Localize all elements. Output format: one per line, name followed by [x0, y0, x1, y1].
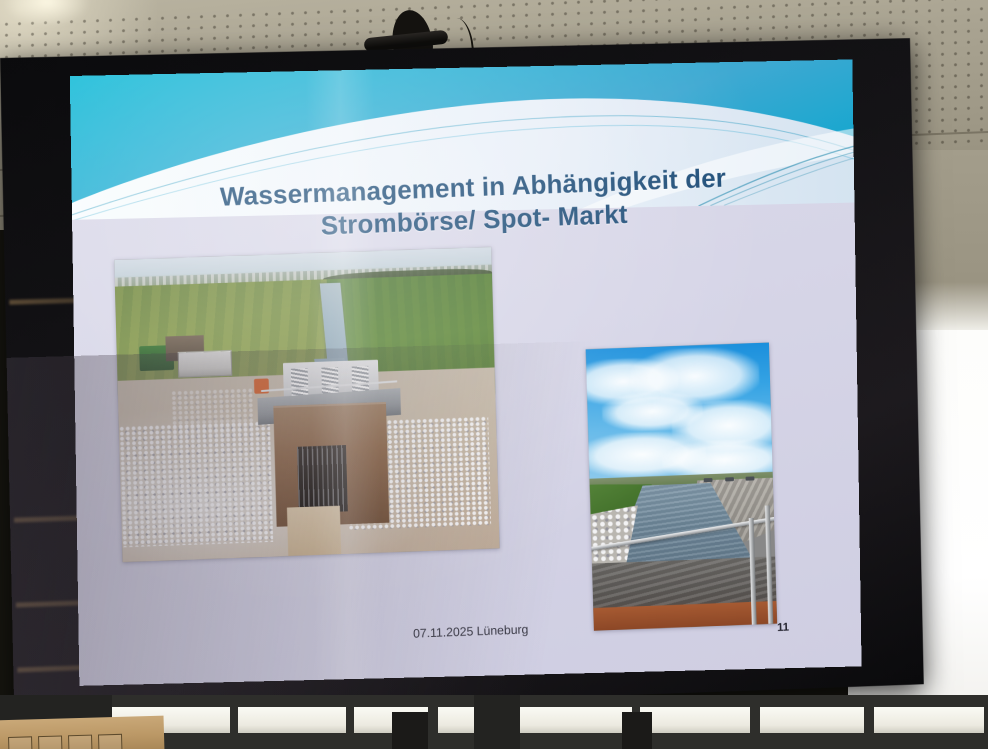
room-window-pane — [874, 707, 984, 733]
conference-room-scene: Wassermanagement in Abhängigkeit der Str… — [0, 0, 988, 749]
shipping-symbol-icon — [8, 736, 32, 749]
aerial-pumping-station-photo[interactable] — [114, 247, 499, 562]
slide-page-number: 11 — [763, 621, 802, 634]
room-window-pane — [438, 707, 474, 733]
photo-opening-bars — [297, 445, 348, 513]
photo-sand-path — [287, 506, 341, 556]
shipping-symbol-icon — [68, 735, 92, 749]
photo-gravel-pile — [119, 421, 273, 547]
shipping-symbol-icon — [38, 735, 62, 749]
photo-site-container — [177, 350, 233, 378]
display-stand-left — [392, 712, 428, 749]
presentation-slide[interactable]: Wassermanagement in Abhängigkeit der Str… — [70, 59, 862, 685]
display-stand-right — [622, 712, 652, 749]
photo-sand-pile — [171, 388, 255, 439]
room-window-pane — [238, 707, 346, 733]
shipping-symbol-icon — [98, 734, 122, 749]
cardboard-box — [0, 716, 164, 749]
wall-display[interactable]: Wassermanagement in Abhängigkeit der Str… — [0, 38, 924, 717]
photo-vehicle — [703, 478, 712, 482]
room-window-pane — [640, 707, 750, 733]
photo-vehicle — [725, 478, 734, 482]
ceiling-light-glow — [4, 0, 90, 26]
canal-with-railing-photo[interactable] — [586, 342, 778, 630]
room-dark-panel — [474, 695, 520, 749]
photo-vehicle — [745, 477, 754, 481]
photo-structure-opening — [297, 445, 348, 513]
room-window-pane — [760, 707, 864, 733]
slide-footer-date: 07.11.2025 Lüneburg — [79, 610, 861, 653]
room-window-pane — [520, 707, 632, 733]
photo-orange-equipment — [254, 378, 270, 394]
